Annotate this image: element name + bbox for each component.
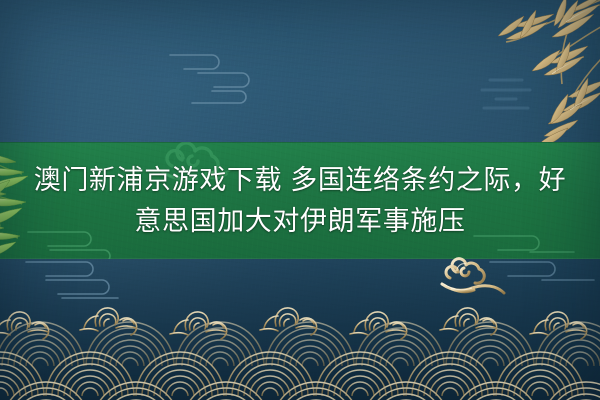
cloud-meander-icon <box>168 42 264 104</box>
bamboo-branch-icon <box>418 0 600 144</box>
page-title: 澳门新浦京游戏下载 多国连络条约之际，好意思国加大对伊朗军事施压 <box>22 160 578 242</box>
title-area: 澳门新浦京游戏下载 多国连络条约之际，好意思国加大对伊朗军事施压 <box>0 142 600 259</box>
banner-image: 澳门新浦京游戏下载 多国连络条约之际，好意思国加大对伊朗军事施压 <box>0 0 600 400</box>
sea-wave-pattern-icon <box>0 290 600 400</box>
